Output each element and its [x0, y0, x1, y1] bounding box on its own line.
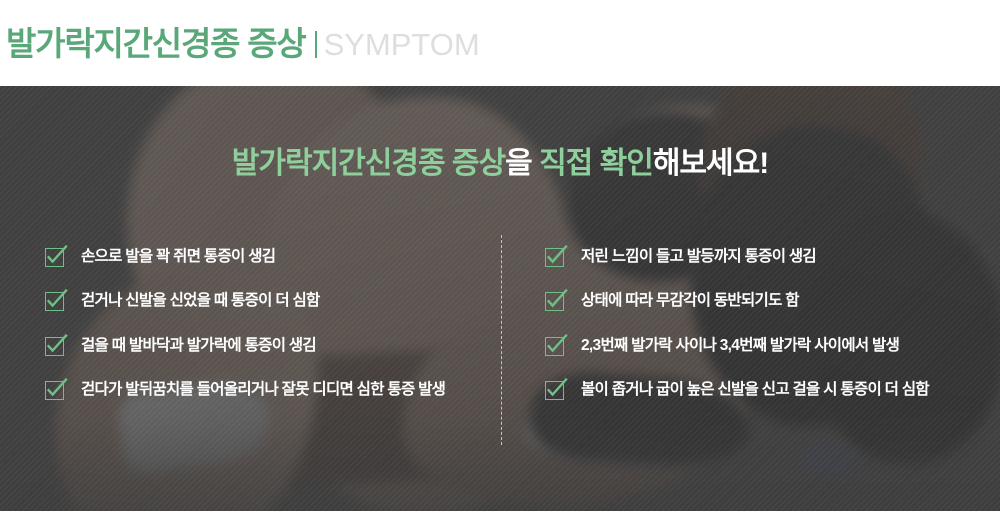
- checkbox-checked-icon: [545, 381, 564, 400]
- panel-headline: 발가락지간신경종 증상을 직접 확인해보세요!: [0, 146, 1000, 182]
- list-item: 볼이 좁거나 굽이 높은 신발을 신고 걸을 시 통증이 더 심함: [545, 379, 965, 401]
- list-item-label: 걷다가 발뒤꿈치를 들어올리거나 잘못 디디면 심한 통증 발생: [81, 379, 445, 401]
- list-item: 걷거나 신발을 신었을 때 통증이 더 심함: [45, 290, 485, 312]
- headline-part-4: 해보세요!: [653, 147, 768, 180]
- panel-content: 발가락지간신경종 증상을 직접 확인해보세요! 손으로 발을 꽉 쥐면 통증이 …: [0, 86, 1000, 511]
- list-item-label: 저린 느낌이 들고 발등까지 통증이 생김: [581, 246, 816, 268]
- list-item: 저린 느낌이 들고 발등까지 통증이 생김: [545, 246, 965, 268]
- list-item-label: 걷거나 신발을 신었을 때 통증이 더 심함: [81, 290, 320, 312]
- column-divider: [501, 235, 502, 445]
- header-title-group: 발가락지간신경종 증상 SYMPTOM: [0, 27, 480, 60]
- symptom-list-right: 저린 느낌이 들고 발등까지 통증이 생김 상태에 따라 무감각이 동반되기도 …: [545, 246, 965, 424]
- list-item-label: 볼이 좁거나 굽이 높은 신발을 신고 걸을 시 통증이 더 심함: [581, 379, 929, 401]
- list-item-label: 걸을 때 발바닥과 발가락에 통증이 생김: [81, 335, 316, 357]
- checkbox-checked-icon: [45, 381, 64, 400]
- checkbox-checked-icon: [45, 292, 64, 311]
- list-item: 손으로 발을 꽉 쥐면 통증이 생김: [45, 246, 485, 268]
- page-title-english: SYMPTOM: [324, 29, 480, 60]
- list-item: 2,3번째 발가락 사이나 3,4번째 발가락 사이에서 발생: [545, 335, 965, 357]
- symptom-list-left: 손으로 발을 꽉 쥐면 통증이 생김 걷거나 신발을 신었을 때 통증이 더 심…: [45, 246, 485, 424]
- list-item: 걸을 때 발바닥과 발가락에 통증이 생김: [45, 335, 485, 357]
- page-header: 발가락지간신경종 증상 SYMPTOM: [0, 0, 1000, 86]
- list-item-label: 손으로 발을 꽉 쥐면 통증이 생김: [81, 246, 275, 268]
- page-root: 발가락지간신경종 증상 SYMPTOM: [0, 0, 1000, 511]
- checkbox-checked-icon: [545, 337, 564, 356]
- headline-part-1: 발가락지간신경종 증상: [232, 147, 505, 180]
- checkbox-checked-icon: [45, 337, 64, 356]
- list-item-label: 2,3번째 발가락 사이나 3,4번째 발가락 사이에서 발생: [581, 335, 899, 357]
- list-item: 상태에 따라 무감각이 동반되기도 함: [545, 290, 965, 312]
- symptom-panel: 발가락지간신경종 증상을 직접 확인해보세요! 손으로 발을 꽉 쥐면 통증이 …: [0, 86, 1000, 511]
- checkbox-checked-icon: [545, 292, 564, 311]
- page-title-korean: 발가락지간신경종 증상: [6, 27, 306, 60]
- checkbox-checked-icon: [545, 248, 564, 267]
- title-separator-bar: [315, 31, 317, 58]
- list-item-label: 상태에 따라 무감각이 동반되기도 함: [581, 290, 799, 312]
- headline-part-2: 을: [505, 147, 539, 180]
- checkbox-checked-icon: [45, 248, 64, 267]
- list-item: 걷다가 발뒤꿈치를 들어올리거나 잘못 디디면 심한 통증 발생: [45, 379, 485, 401]
- headline-part-3: 직접 확인: [539, 147, 653, 180]
